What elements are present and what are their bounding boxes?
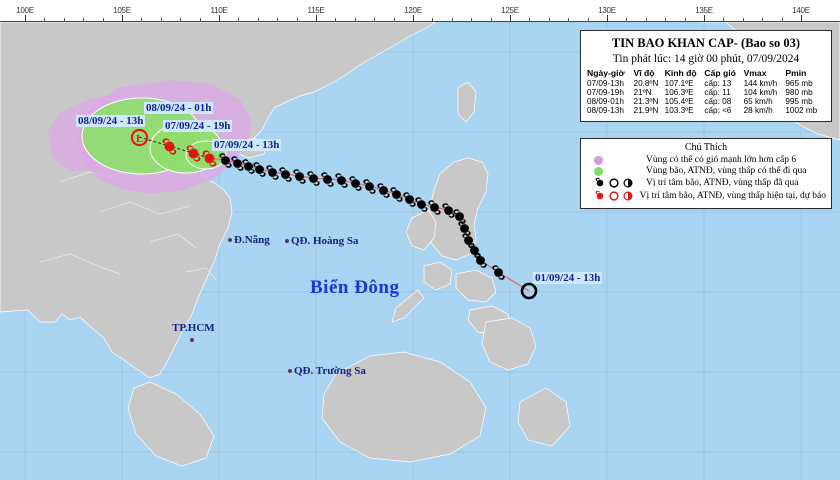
cell-r3-c0: 08/09-13h [587, 106, 634, 115]
column-header-2: Kinh độ [665, 68, 705, 79]
legend-text-2: Vị trí tâm bão, ATNĐ, vùng thấp đã qua [646, 178, 799, 188]
axis-tick-major [801, 15, 802, 22]
label-0809-13h: 08/09/24 - 13h [76, 115, 145, 127]
storm-info-panel: TIN BAO KHAN CAP- (Bao so 03) Tin phát l… [580, 30, 832, 122]
axis-tick-minor [103, 18, 104, 22]
cell-r0-c5: 965 mb [785, 79, 825, 88]
axis-tick-minor [549, 18, 550, 22]
axis-tick-minor [394, 18, 395, 22]
cell-r0-c4: 144 km/h [744, 79, 786, 88]
axis-tick-minor [335, 18, 336, 22]
legend-item-3: Vị trí tâm bão, ATNĐ, vùng thấp hiện tại… [586, 190, 826, 202]
label-0709-13h: 07/09/24 - 13h [212, 139, 281, 151]
cell-r2-c5: 995 mb [785, 97, 825, 106]
axis-tick-major [510, 15, 511, 22]
legend-symbol-green-dot-icon [586, 167, 646, 176]
axis-tick-minor [568, 18, 569, 22]
place-label-hoang-sa: QĐ. Hoàng Sa [285, 235, 359, 247]
column-header-5: Pmin [785, 68, 825, 79]
axis-tick-minor [452, 18, 453, 22]
column-header-1: Vĩ độ [634, 68, 665, 79]
table-row: 07/09-13h20.8ºN107.1ºEcấp: 13144 km/h965… [587, 79, 825, 88]
cell-r3-c5: 1002 mb [785, 106, 825, 115]
cell-r3-c1: 21.9ºN [634, 106, 665, 115]
axis-tick-minor [665, 18, 666, 22]
legend-text-1: Vùng bão, ATNĐ, vùng thấp có thể đi qua [646, 166, 806, 176]
cell-r1-c5: 980 mb [785, 88, 825, 97]
axis-label-110e: 110E [211, 6, 228, 15]
cell-r3-c2: 103.3ºE [665, 106, 705, 115]
column-header-3: Cấp gió [704, 68, 743, 79]
typhoon-tracking-map: 100E105E110E115E120E125E130E135E140E [0, 0, 840, 480]
panel-subtitle: Tin phát lúc: 14 giờ 00 phút, 07/09/2024 [587, 53, 825, 65]
legend-rows: Vùng có thể có gió mạnh lớn hơn cấp 6Vùn… [586, 155, 826, 202]
legend-symbol-red-cyclone-trio-icon [586, 190, 640, 202]
legend-panel: Chú Thích Vùng có thể có gió mạnh lớn hơ… [580, 138, 832, 209]
axis-tick-major [704, 15, 705, 22]
axis-tick-minor [491, 18, 492, 22]
cell-r1-c2: 106.3ºE [665, 88, 705, 97]
cell-r2-c4: 65 km/h [744, 97, 786, 106]
place-label-da-nang: Đ.Nẵng [228, 234, 270, 246]
cell-r1-c0: 07/09-19h [587, 88, 634, 97]
axis-label-135e: 135E [695, 6, 712, 15]
axis-tick-minor [64, 18, 65, 22]
cell-r0-c1: 20.8ºN [634, 79, 665, 88]
table-row: 08/09-13h21.9ºN103.3ºEcấp: <628 km/h1002… [587, 106, 825, 115]
axis-label-130e: 130E [598, 6, 615, 15]
cell-r3-c3: cấp: <6 [704, 106, 743, 115]
cell-r1-c4: 104 km/h [744, 88, 786, 97]
axis-tick-minor [258, 18, 259, 22]
axis-tick-major [25, 15, 26, 22]
axis-label-100e: 100E [16, 6, 33, 15]
axis-tick-minor [646, 18, 647, 22]
axis-label-125e: 125E [501, 6, 518, 15]
legend-item-1: Vùng bão, ATNĐ, vùng thấp có thể đi qua [586, 166, 826, 176]
longitude-axis: 100E105E110E115E120E125E130E135E140E [0, 0, 840, 22]
axis-tick-major [607, 15, 608, 22]
cell-r2-c2: 105.4ºE [665, 97, 705, 106]
axis-tick-minor [83, 18, 84, 22]
place-dot-icon [228, 238, 232, 242]
table-row: 08/09-01h21.3ºN105.4ºEcấp: 0865 km/h995 … [587, 97, 825, 106]
axis-tick-minor [471, 18, 472, 22]
column-header-0: Ngày-giờ [587, 68, 634, 79]
cell-r2-c3: cấp: 08 [704, 97, 743, 106]
place-dot-icon [190, 338, 194, 342]
axis-tick-minor [297, 18, 298, 22]
cell-r0-c2: 107.1ºE [665, 79, 705, 88]
place-dot-icon [285, 239, 289, 243]
cell-r1-c3: cấp: 11 [704, 88, 743, 97]
axis-label-120e: 120E [404, 6, 421, 15]
cell-r0-c3: cấp: 13 [704, 79, 743, 88]
axis-label-115e: 115E [308, 6, 325, 15]
place-label-tp-hcm: TP.HCM [172, 322, 215, 334]
svg-text:L: L [136, 134, 143, 145]
table-row: 07/09-19h21ºN106.3ºEcấp: 11104 km/h980 m… [587, 88, 825, 97]
axis-tick-minor [588, 18, 589, 22]
legend-title: Chú Thích [586, 142, 826, 153]
legend-symbol-black-cyclone-trio-icon [586, 177, 646, 189]
axis-tick-minor [374, 18, 375, 22]
label-0109-13h: 01/09/24 - 13h [533, 272, 602, 284]
column-header-4: Vmax [744, 68, 786, 79]
axis-tick-major [316, 15, 317, 22]
place-label-truong-sa: QĐ. Trường Sa [288, 365, 366, 377]
cell-r0-c0: 07/09-13h [587, 79, 634, 88]
cell-r1-c1: 21ºN [634, 88, 665, 97]
legend-item-2: Vị trí tâm bão, ATNĐ, vùng thấp đã qua [586, 177, 826, 189]
axis-tick-minor [432, 18, 433, 22]
label-0709-19h: 07/09/24 - 19h [163, 120, 232, 132]
panel-title: TIN BAO KHAN CAP- (Bao so 03) [587, 36, 825, 51]
sea-name-label: Biển Đông [310, 277, 400, 299]
axis-tick-minor [626, 18, 627, 22]
axis-tick-minor [277, 18, 278, 22]
table-body: 07/09-13h20.8ºN107.1ºEcấp: 13144 km/h965… [587, 79, 825, 115]
axis-tick-major [219, 15, 220, 22]
axis-tick-minor [238, 18, 239, 22]
axis-tick-minor [180, 18, 181, 22]
axis-tick-minor [685, 18, 686, 22]
legend-text-3: Vị trí tâm bão, ATNĐ, vùng thấp hiện tại… [640, 191, 826, 201]
place-dot-tp-hcm [190, 334, 196, 346]
legend-symbol-violet-dot-icon [586, 156, 646, 165]
axis-tick-minor [782, 18, 783, 22]
axis-label-105e: 105E [113, 6, 130, 15]
cell-r2-c0: 08/09-01h [587, 97, 634, 106]
axis-tick-major [122, 15, 123, 22]
table-header-row: Ngày-giờVĩ độKinh độCấp gióVmaxPmin [587, 68, 825, 79]
axis-tick-minor [743, 18, 744, 22]
axis-tick-major [413, 15, 414, 22]
label-0809-01h: 08/09/24 - 01h [144, 102, 213, 114]
axis-tick-minor [723, 18, 724, 22]
axis-tick-minor [200, 18, 201, 22]
forecast-table: Ngày-giờVĩ độKinh độCấp gióVmaxPmin 07/0… [587, 68, 825, 115]
axis-tick-minor [355, 18, 356, 22]
place-dot-icon [288, 369, 292, 373]
legend-item-0: Vùng có thể có gió mạnh lớn hơn cấp 6 [586, 155, 826, 165]
cell-r2-c1: 21.3ºN [634, 97, 665, 106]
axis-tick-minor [44, 18, 45, 22]
axis-tick-minor [529, 18, 530, 22]
axis-label-140e: 140E [792, 6, 809, 15]
axis-tick-minor [141, 18, 142, 22]
axis-line [0, 21, 840, 22]
legend-text-0: Vùng có thể có gió mạnh lớn hơn cấp 6 [646, 155, 796, 165]
cell-r3-c4: 28 km/h [744, 106, 786, 115]
axis-tick-minor [161, 18, 162, 22]
axis-tick-minor [762, 18, 763, 22]
